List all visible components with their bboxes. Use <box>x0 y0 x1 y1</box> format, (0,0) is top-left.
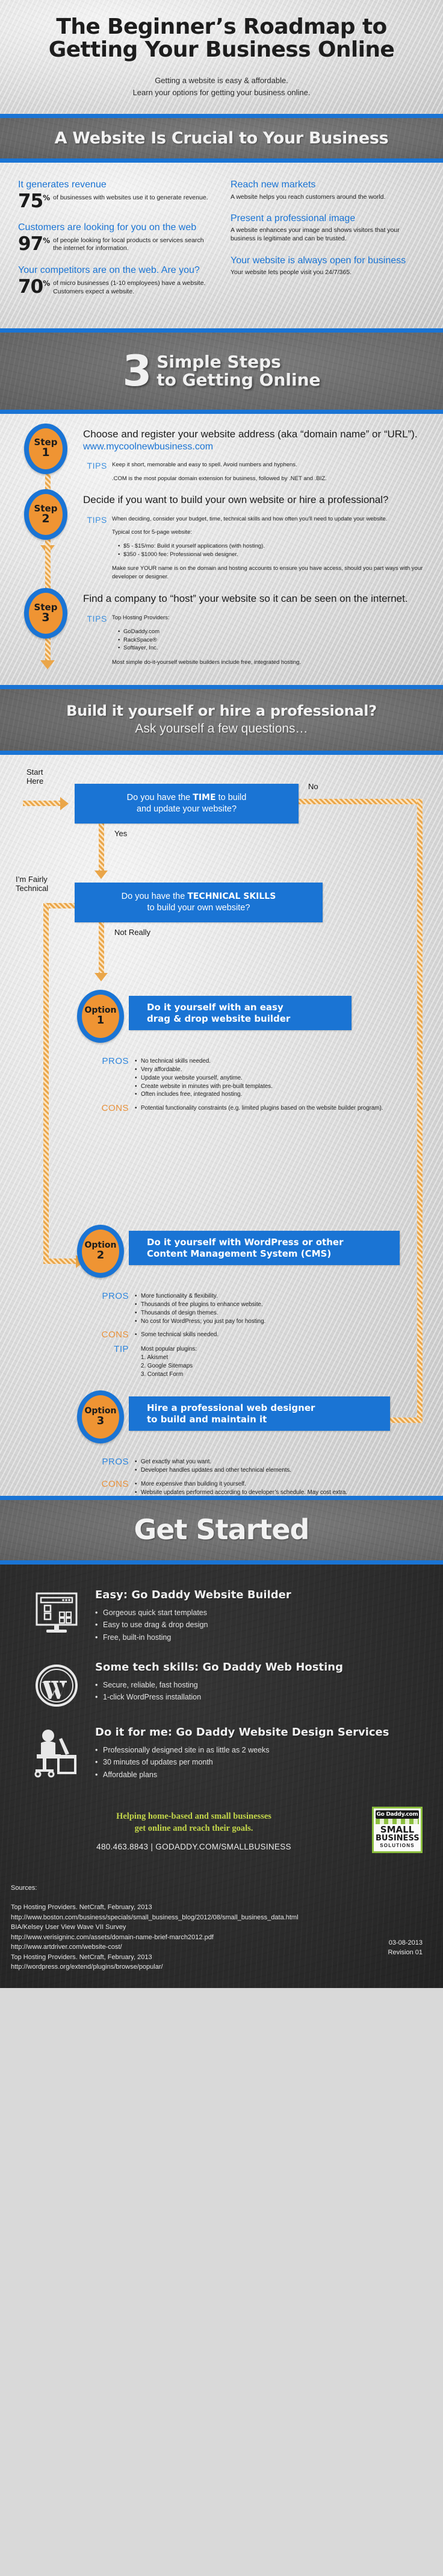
tips-text: Keep it short, memorable and easy to spe… <box>112 461 427 483</box>
cons-label: CONS <box>77 1103 135 1113</box>
cons-list: More expensive than building it yourself… <box>135 1479 402 1497</box>
hero-section: The Beginner’s Roadmap to Getting Your B… <box>0 0 443 114</box>
step-body: Choose and register your website address… <box>83 424 427 483</box>
stat-item: Your website is always open for business… <box>231 255 425 277</box>
pros-list: No technical skills needed. Very afforda… <box>135 1056 390 1099</box>
wordpress-icon <box>20 1661 93 1709</box>
not-really-label: Not Really <box>114 928 150 937</box>
step-row: Step 3 Find a company to “host” your web… <box>0 588 443 667</box>
get-started-title: Easy: Go Daddy Website Builder <box>95 1589 423 1601</box>
option-1-title-line-1: Do it yourself with an easy <box>147 1002 283 1013</box>
option-3-title-line-1: Hire a professional web designer <box>147 1402 315 1413</box>
divider-blue <box>0 114 443 118</box>
source-item: http://wordpress.org/extend/plugins/brow… <box>11 1962 432 1972</box>
awning-decoration <box>376 1819 419 1824</box>
pros-label: PROS <box>77 1457 135 1475</box>
stat-item: Present a professional image A website e… <box>231 213 425 243</box>
option-3-title-line-2: to build and maintain it <box>147 1414 267 1425</box>
percent-sign: % <box>43 279 49 287</box>
stat-text: of people looking for local products or … <box>49 236 212 254</box>
stat-text: Your website lets people visit you 24/7/… <box>231 268 425 277</box>
pros-row: PROS Get exactly what you want. Develope… <box>77 1457 402 1475</box>
option-2-title-line-2: Content Management System (CMS) <box>147 1248 331 1259</box>
bullet-item: 30 minutes of updates per month <box>95 1756 423 1769</box>
stat-item: It generates revenue 75% of businesses w… <box>18 180 212 210</box>
bullet-item: Secure, reliable, fast hosting <box>95 1679 423 1692</box>
providers-list: GoDaddy.com RackSpace® Softlayer, Inc. <box>118 628 427 652</box>
page-title: The Beginner’s Roadmap to Getting Your B… <box>14 16 429 61</box>
logo-line-3: SOLUTIONS <box>376 1843 419 1848</box>
flow-arrow-head-icon <box>40 660 55 669</box>
option-2-title-line-1: Do it yourself with WordPress or other <box>147 1237 343 1248</box>
stat-percent: 75% <box>18 193 49 210</box>
title-line-2: Getting Your Business Online <box>49 37 395 62</box>
option-word: Option <box>85 1407 117 1415</box>
source-item: http://www.verisigninc.com/assets/domain… <box>11 1933 432 1943</box>
cost-intro: Typical cost for 5-page website: <box>112 529 192 536</box>
flow-connector-line <box>417 799 423 1422</box>
q2-pre: Do you have the <box>122 892 188 901</box>
pros-item: Often includes free, integrated hosting. <box>135 1090 390 1099</box>
pros-list: Get exactly what you want. Developer han… <box>135 1457 402 1475</box>
pros-item: Get exactly what you want. <box>135 1458 402 1466</box>
logo-brand: Go Daddy.com <box>376 1810 419 1819</box>
promo-tagline-line-2: get online and reach their goals. <box>135 1824 253 1833</box>
cons-label: CONS <box>77 1330 135 1340</box>
step-title: Choose and register your website address… <box>83 428 427 441</box>
subtitle-line-1: Getting a website is easy & affordable. <box>155 76 288 85</box>
sources-label: Sources: <box>11 1884 432 1892</box>
stat-item: Your competitors are on the web. Are you… <box>18 265 212 296</box>
tips-block: TIPS Top Hosting Providers: GoDaddy.com … <box>83 614 427 667</box>
logo-line-1: SMALL <box>376 1825 419 1835</box>
flow-arrow-head-icon <box>94 871 108 879</box>
pros-item: More functionality & flexibility. <box>135 1292 402 1301</box>
pros-item: Update your website yourself, anytime. <box>135 1074 390 1083</box>
provider-item: GoDaddy.com <box>118 628 427 636</box>
cons-item: Potential functionality constraints (e.g… <box>135 1104 390 1113</box>
step-badge-3: Step 3 <box>24 588 67 639</box>
tip-item: 2. Google Sitemaps <box>135 1362 402 1371</box>
get-started-heading: Get Started <box>8 1513 435 1546</box>
cons-row: CONS Potential functionality constraints… <box>77 1103 390 1113</box>
bullet-item: Gorgeous quick start templates <box>95 1607 423 1619</box>
stat-item: Customers are looking for you on the web… <box>18 222 212 253</box>
tip-line: Keep it short, memorable and easy to spe… <box>112 461 427 469</box>
step-number: 1 <box>42 447 49 459</box>
tips-block: TIPS Keep it short, memorable and easy t… <box>83 461 427 483</box>
source-item: Top Hosting Providers. NetCraft, Februar… <box>11 1952 432 1963</box>
option-number: 2 <box>97 1249 105 1261</box>
tip-list: Most popular plugins: 1. Akismet 2. Goog… <box>135 1344 402 1379</box>
step-number: 3 <box>42 612 49 624</box>
tip-label: TIP <box>77 1344 135 1379</box>
pros-list: More functionality & flexibility. Thousa… <box>135 1291 402 1326</box>
decision-subheading: Ask yourself a few questions… <box>8 722 435 736</box>
steps-section: Step 1 Choose and register your website … <box>0 414 443 685</box>
flow-connector-line <box>299 799 423 804</box>
get-started-row: Easy: Go Daddy Website Builder Gorgeous … <box>20 1589 423 1644</box>
hero-subtitle: Getting a website is easy & affordable. … <box>14 75 429 98</box>
steps-big-number: 3 <box>122 354 152 389</box>
percent-sign: % <box>43 236 49 245</box>
stat-percent-value: 97 <box>18 233 43 255</box>
tip-line: When deciding, consider your budget, tim… <box>112 515 427 524</box>
fairly-technical-label: I’m Fairly Technical <box>16 875 48 893</box>
provider-item: RackSpace® <box>118 636 427 645</box>
pros-row: PROS No technical skills needed. Very af… <box>77 1056 390 1099</box>
step-row: Step 2 Decide if you want to build your … <box>0 489 443 581</box>
stat-title: Your competitors are on the web. Are you… <box>18 265 212 276</box>
pros-row: PROS More functionality & flexibility. T… <box>77 1291 402 1326</box>
promo-text: Helping home-based and small businesses … <box>20 1807 367 1851</box>
start-here-label: Start Here <box>26 768 43 786</box>
crucial-band: A Website Is Crucial to Your Business <box>0 118 443 158</box>
q2-emphasis: TECHNICAL SKILLS <box>187 892 276 901</box>
question-box-time: Do you have the TIME to build and update… <box>75 784 299 824</box>
stat-percent: 70% <box>18 278 49 296</box>
steps-band-line-1: Simple Steps <box>156 353 320 371</box>
tip-row: TIP Most popular plugins: 1. Akismet 2. … <box>77 1344 402 1379</box>
step-badge-1: Step 1 <box>24 424 67 474</box>
promo-contact[interactable]: 480.463.8843 | GODADDY.COM/SMALLBUSINESS <box>20 1842 367 1851</box>
step-badge-2: Step 2 <box>24 489 67 540</box>
pros-item: No technical skills needed. <box>135 1057 390 1066</box>
provider-item: Softlayer, Inc. <box>118 644 427 652</box>
step-row: Step 1 Choose and register your website … <box>0 424 443 483</box>
get-started-row: Do it for me: Go Daddy Website Design Se… <box>20 1726 423 1781</box>
step-title: Decide if you want to build your own web… <box>83 494 427 507</box>
website-builder-icon <box>20 1589 93 1644</box>
stats-column-left: It generates revenue 75% of businesses w… <box>18 180 212 308</box>
pros-item: Thousands of free plugins to enhance web… <box>135 1301 402 1309</box>
tips-label: TIPS <box>83 614 112 667</box>
divider-blue <box>0 158 443 163</box>
option-2-title: Do it yourself with WordPress or other C… <box>129 1231 400 1266</box>
decision-heading: Build it yourself or hire a professional… <box>8 702 435 719</box>
cons-label: CONS <box>77 1479 135 1497</box>
step-title: Find a company to “host” your website so… <box>83 593 427 605</box>
get-started-row: Some tech skills: Go Daddy Web Hosting S… <box>20 1661 423 1709</box>
step-marker: Step 1 <box>16 424 83 483</box>
option-3-title: Hire a professional web designer to buil… <box>129 1396 390 1431</box>
step-number: 2 <box>42 513 49 525</box>
cons-list: Potential functionality constraints (e.g… <box>135 1103 390 1113</box>
flow-connector-line <box>23 801 63 806</box>
stat-percent-value: 75 <box>18 190 43 212</box>
crucial-stats: It generates revenue 75% of businesses w… <box>0 163 443 328</box>
sources-section: Sources: Top Hosting Providers. NetCraft… <box>0 1853 443 1988</box>
steps-band: 3 Simple Steps to Getting Online <box>0 333 443 409</box>
question-2-text: Do you have the TECHNICAL SKILLS to buil… <box>122 891 276 913</box>
cost-item: $5 - $15/mo: Build it yourself applicati… <box>118 542 427 551</box>
get-started-title: Some tech skills: Go Daddy Web Hosting <box>95 1661 423 1674</box>
option-word: Option <box>85 1241 117 1249</box>
q2-line2: to build your own website? <box>147 903 250 913</box>
option-number: 1 <box>97 1014 105 1027</box>
infographic-page: The Beginner’s Roadmap to Getting Your B… <box>0 0 443 1988</box>
tips-label: TIPS <box>83 461 112 483</box>
flow-arrow-head-icon <box>60 797 69 810</box>
divider-blue <box>0 1560 443 1565</box>
decision-flowchart: Start Here Do you have the TIME to build… <box>0 755 443 1496</box>
logo-line-2: BUSINESS <box>376 1834 419 1843</box>
title-line-1: The Beginner’s Roadmap to <box>56 14 386 39</box>
option-1-title: Do it yourself with an easy drag & drop … <box>129 996 352 1031</box>
stat-title: Customers are looking for you on the web <box>18 222 212 233</box>
tip-line: Make sure YOUR name is on the domain and… <box>112 564 427 581</box>
crucial-heading: A Website Is Crucial to Your Business <box>11 129 432 148</box>
option-3-badge: Option 3 <box>77 1390 124 1443</box>
cons-item: Some technical skills needed. <box>135 1331 402 1339</box>
source-item: http://www.artdriver.com/website-cost/ <box>11 1942 432 1952</box>
tip-line: Most simple do-it-yourself website build… <box>112 658 427 667</box>
option-number: 3 <box>97 1415 105 1427</box>
q1-line2: and update your website? <box>137 804 237 814</box>
get-started-bullets: Gorgeous quick start templates Easy to u… <box>95 1607 423 1644</box>
get-started-body: Easy: Go Daddy Website Builder Gorgeous … <box>93 1589 423 1644</box>
source-item: Top Hosting Providers. NetCraft, Februar… <box>11 1902 432 1913</box>
decision-band: Build it yourself or hire a professional… <box>0 689 443 751</box>
source-item: BIA/Kelsey User View Wave VII Survey <box>11 1922 432 1933</box>
option-2-badge: Option 2 <box>77 1225 124 1278</box>
question-1-text: Do you have the TIME to build and update… <box>127 792 247 814</box>
get-started-body: Do it for me: Go Daddy Website Design Se… <box>93 1726 423 1781</box>
pros-item: Developer handles updates and other tech… <box>135 1466 402 1475</box>
get-started-body: Some tech skills: Go Daddy Web Hosting S… <box>93 1661 423 1709</box>
divider-blue <box>0 685 443 689</box>
cost-list: $5 - $15/mo: Build it yourself applicati… <box>118 542 427 559</box>
q1-post: to build <box>216 793 247 802</box>
cons-row: CONS More expensive than building it you… <box>77 1479 402 1497</box>
stat-text: A website enhances your image and shows … <box>231 226 425 243</box>
option-3-proscons: PROS Get exactly what you want. Develope… <box>77 1457 402 1501</box>
step-marker: Step 2 <box>16 489 83 581</box>
bullet-item: Affordable plans <box>95 1769 423 1781</box>
divider-blue <box>0 751 443 755</box>
cons-item: More expensive than building it yourself… <box>135 1480 402 1489</box>
promo-tagline-line-1: Helping home-based and small businesses <box>116 1812 271 1821</box>
flow-connector-line <box>43 1258 77 1264</box>
revision-info: 03-08-2013 Revision 01 <box>388 1938 423 1958</box>
bullet-item: 1-click WordPress installation <box>95 1691 423 1704</box>
option-1-badge: Option 1 <box>77 990 124 1043</box>
flow-arrow-head-icon <box>94 973 108 981</box>
pros-item: No cost for WordPress; you just pay for … <box>135 1318 402 1326</box>
tip-line: Top Hosting Providers: <box>112 614 427 622</box>
tips-text: Top Hosting Providers: GoDaddy.com RackS… <box>112 614 427 667</box>
yes-label: Yes <box>114 830 127 839</box>
option-1-proscons: PROS No technical skills needed. Very af… <box>77 1056 390 1118</box>
option-2-proscons: PROS More functionality & flexibility. T… <box>77 1291 402 1383</box>
get-started-bullets: Professionally designed site in as littl… <box>95 1744 423 1781</box>
cost-item: $350 - $1000 fee: Professional web desig… <box>118 551 427 559</box>
tips-text: When deciding, consider your budget, tim… <box>112 515 427 581</box>
pros-label: PROS <box>77 1291 135 1326</box>
tip-line: Typical cost for 5-page website: <box>112 528 427 537</box>
designer-at-desk-icon <box>20 1726 93 1781</box>
divider-blue <box>0 410 443 414</box>
stat-text: A website helps you reach customers arou… <box>231 193 425 201</box>
steps-band-line-2: to Getting Online <box>156 371 320 389</box>
flow-connector-line <box>99 922 104 974</box>
stat-title: Your website is always open for business <box>231 255 425 266</box>
stat-title: Present a professional image <box>231 213 425 224</box>
tips-block: TIPS When deciding, consider your budget… <box>83 515 427 581</box>
q1-emphasis: TIME <box>193 793 215 802</box>
stat-percent: 97% <box>18 236 49 253</box>
providers-intro: Top Hosting Providers: <box>112 614 170 621</box>
tip-line: .COM is the most popular domain extensio… <box>112 475 427 483</box>
promo-section: Helping home-based and small businesses … <box>0 1804 443 1853</box>
step-body: Decide if you want to build your own web… <box>83 489 427 581</box>
get-started-bullets: Secure, reliable, fast hosting 1-click W… <box>95 1679 423 1704</box>
tips-label: TIPS <box>83 515 112 581</box>
cons-list: Some technical skills needed. <box>135 1330 402 1340</box>
stat-percent-value: 70 <box>18 276 43 298</box>
option-word: Option <box>85 1006 117 1014</box>
stat-text: of micro businesses (1-10 employees) hav… <box>49 278 212 296</box>
percent-sign: % <box>43 193 49 202</box>
source-item: http://www.boston.com/business/specials/… <box>11 1913 432 1923</box>
revision-date: 03-08-2013 <box>388 1938 423 1948</box>
stat-title: Reach new markets <box>231 180 425 190</box>
step-url: www.mycoolnewbusiness.com <box>83 442 427 452</box>
q1-pre: Do you have the <box>127 793 193 802</box>
no-label: No <box>308 783 318 792</box>
stat-title: It generates revenue <box>18 180 212 190</box>
stat-item: Reach new markets A website helps you re… <box>231 180 425 201</box>
bullet-item: Professionally designed site in as littl… <box>95 1744 423 1757</box>
bullet-item: Easy to use drag & drop design <box>95 1619 423 1631</box>
pros-item: Create website in minutes with pre-built… <box>135 1083 390 1091</box>
divider-blue <box>0 328 443 333</box>
sources-list: Top Hosting Providers. NetCraft, Februar… <box>11 1902 432 1972</box>
flow-connector-line <box>99 824 104 872</box>
tip-intro: Most popular plugins: <box>135 1345 402 1354</box>
cons-item: Website updates performed according to d… <box>135 1489 402 1497</box>
step-body: Find a company to “host” your website so… <box>83 588 427 667</box>
godaddy-small-business-logo: Go Daddy.com SMALL BUSINESS SOLUTIONS <box>372 1807 423 1853</box>
stat-text: of businesses with websites use it to ge… <box>49 193 208 202</box>
flow-connector-line <box>43 903 49 1263</box>
get-started-title: Do it for me: Go Daddy Website Design Se… <box>95 1726 423 1739</box>
subtitle-line-2: Learn your options for getting your busi… <box>133 88 311 97</box>
pros-item: Thousands of design themes. <box>135 1309 402 1318</box>
option-1-title-line-2: drag & drop website builder <box>147 1013 290 1024</box>
question-box-technical-skills: Do you have the TECHNICAL SKILLS to buil… <box>75 883 323 922</box>
bullet-item: Free, built-in hosting <box>95 1631 423 1644</box>
pros-item: Very affordable. <box>135 1066 390 1074</box>
get-started-band: Get Started <box>0 1500 443 1560</box>
stats-column-right: Reach new markets A website helps you re… <box>231 180 425 308</box>
tip-item: 3. Contact Form <box>135 1371 402 1379</box>
promo-tagline: Helping home-based and small businesses … <box>20 1810 367 1834</box>
cons-row: CONS Some technical skills needed. <box>77 1330 402 1340</box>
pros-label: PROS <box>77 1056 135 1099</box>
tip-item: 1. Akismet <box>135 1354 402 1362</box>
get-started-section: Easy: Go Daddy Website Builder Gorgeous … <box>0 1565 443 1988</box>
revision-number: Revision 01 <box>388 1948 423 1958</box>
